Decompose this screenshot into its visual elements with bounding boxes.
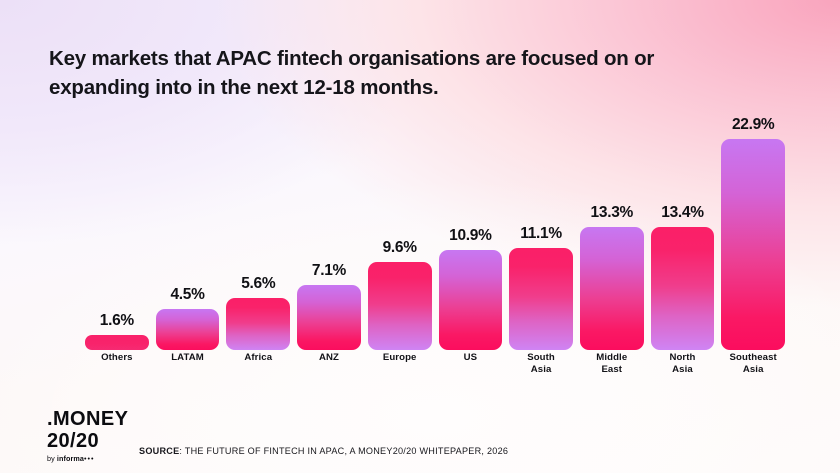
logo-byline-dots: ••• bbox=[84, 454, 95, 463]
category-label-line1: ANZ bbox=[297, 352, 361, 364]
bar-column: 13.4% bbox=[651, 115, 715, 350]
category-label: Europe bbox=[368, 352, 432, 377]
logo-byline-brand: informa bbox=[57, 454, 84, 463]
category-label-line1: South bbox=[509, 352, 573, 364]
category-label-line1: LATAM bbox=[156, 352, 220, 364]
bar-rect bbox=[297, 285, 361, 350]
category-label-line1: Others bbox=[85, 352, 149, 364]
logo-byline-prefix: by bbox=[47, 454, 57, 463]
bar-value-label: 13.3% bbox=[591, 204, 633, 222]
logo-line-one: .MONEY bbox=[47, 409, 128, 431]
bar-value-label: 9.6% bbox=[383, 239, 417, 257]
category-label-line1: Middle bbox=[580, 352, 644, 364]
category-label-line1: US bbox=[439, 352, 503, 364]
category-label-line1: Africa bbox=[226, 352, 290, 364]
bar-rect bbox=[156, 309, 220, 350]
category-label-line2: East bbox=[580, 364, 644, 376]
bar-value-label: 11.1% bbox=[520, 225, 562, 243]
bar-value-label: 10.9% bbox=[449, 227, 491, 245]
bar-rect bbox=[721, 139, 785, 350]
bar-series: 1.6%4.5%5.6%7.1%9.6%10.9%11.1%13.3%13.4%… bbox=[85, 115, 785, 350]
category-label: SoutheastAsia bbox=[721, 352, 785, 377]
bar-value-label: 22.9% bbox=[732, 116, 774, 134]
category-axis-labels: OthersLATAMAfricaANZEuropeUSSouthAsiaMid… bbox=[85, 352, 785, 377]
category-label: NorthAsia bbox=[651, 352, 715, 377]
category-label: MiddleEast bbox=[580, 352, 644, 377]
logo-byline: by informa••• bbox=[47, 454, 128, 463]
category-label-line2: Asia bbox=[721, 364, 785, 376]
bar-column: 9.6% bbox=[368, 115, 432, 350]
bar-rect bbox=[85, 335, 149, 350]
category-label: LATAM bbox=[156, 352, 220, 377]
bar-value-label: 13.4% bbox=[661, 204, 703, 222]
category-label: SouthAsia bbox=[509, 352, 573, 377]
category-label-line1: Europe bbox=[368, 352, 432, 364]
source-text: : THE FUTURE OF FINTECH IN APAC, A MONEY… bbox=[179, 446, 508, 456]
bar-column: 7.1% bbox=[297, 115, 361, 350]
footer: .MONEY 20/20 by informa••• SOURCE: THE F… bbox=[0, 403, 840, 473]
bar-value-label: 1.6% bbox=[100, 312, 134, 330]
bar-rect bbox=[651, 227, 715, 350]
bar-column: 13.3% bbox=[580, 115, 644, 350]
category-label-line1: Southeast bbox=[721, 352, 785, 364]
bar-value-label: 5.6% bbox=[241, 275, 275, 293]
page-title: Key markets that APAC fintech organisati… bbox=[49, 44, 729, 102]
source-attribution: SOURCE: THE FUTURE OF FINTECH IN APAC, A… bbox=[139, 446, 508, 456]
category-label: Others bbox=[85, 352, 149, 377]
category-label-line2: Asia bbox=[651, 364, 715, 376]
category-label-line2: Asia bbox=[509, 364, 573, 376]
bar-column: 4.5% bbox=[156, 115, 220, 350]
bar-rect bbox=[580, 227, 644, 350]
bar-column: 10.9% bbox=[439, 115, 503, 350]
category-label: Africa bbox=[226, 352, 290, 377]
bar-column: 1.6% bbox=[85, 115, 149, 350]
bar-rect bbox=[439, 250, 503, 350]
bar-column: 5.6% bbox=[226, 115, 290, 350]
bar-chart: 1.6%4.5%5.6%7.1%9.6%10.9%11.1%13.3%13.4%… bbox=[85, 115, 785, 350]
bar-column: 11.1% bbox=[509, 115, 573, 350]
logo-line-two: 20/20 bbox=[47, 431, 128, 453]
category-label: US bbox=[439, 352, 503, 377]
bar-value-label: 4.5% bbox=[170, 286, 204, 304]
bar-rect bbox=[226, 298, 290, 350]
category-label: ANZ bbox=[297, 352, 361, 377]
logo-money-text: MONEY bbox=[53, 408, 128, 430]
money2020-logo: .MONEY 20/20 by informa••• bbox=[47, 409, 128, 463]
bar-value-label: 7.1% bbox=[312, 262, 346, 280]
source-label: SOURCE bbox=[139, 446, 179, 456]
bar-column: 22.9% bbox=[721, 115, 785, 350]
bar-rect bbox=[509, 248, 573, 350]
bar-rect bbox=[368, 262, 432, 350]
category-label-line1: North bbox=[651, 352, 715, 364]
